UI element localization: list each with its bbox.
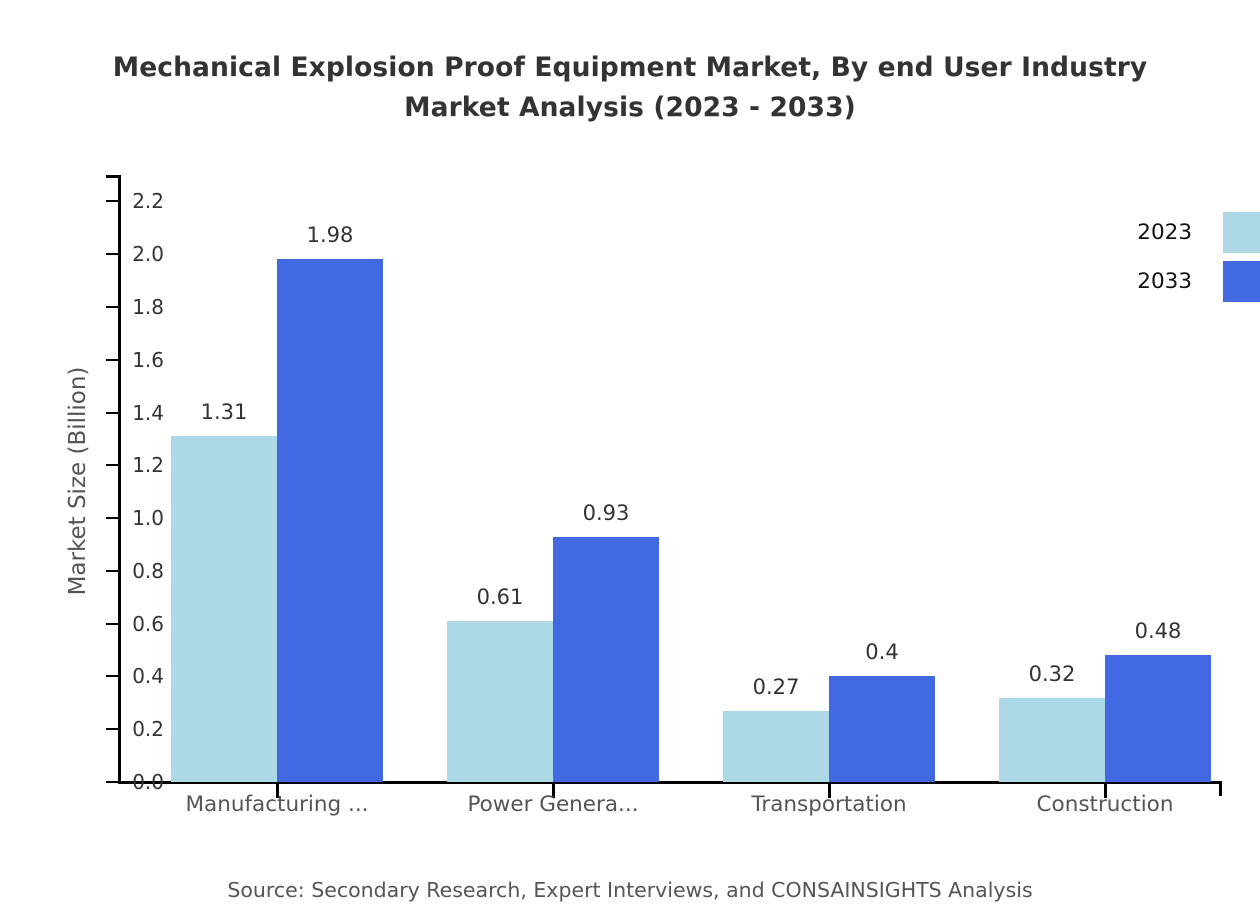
x-category-label-2: Power Genera... [467,792,638,817]
legend-label: 2033 [1090,271,1192,293]
bar-value-label: 0.27 [753,675,800,699]
legend-item-2033[interactable]: 2033 [1090,261,1260,305]
bar-2023-3[interactable] [723,711,829,782]
bar-value-label: 1.98 [307,223,354,247]
plot-area: 1.311.980.610.930.270.40.320.48 [118,175,1222,782]
bar-2033-2[interactable] [553,537,659,782]
bar-value-label: 0.48 [1135,619,1182,643]
x-axis-end-cap [1219,781,1222,796]
legend-label: 2023 [1090,222,1192,244]
bar-2023-1[interactable] [171,436,277,782]
legend-item-2023[interactable]: 2023 [1090,212,1260,256]
bar-2033-3[interactable] [829,676,935,782]
x-category-label-3: Transportation [751,792,906,817]
bar-value-label: 0.61 [477,585,524,609]
x-category-label-4: Construction [1037,792,1174,817]
bar-2033-1[interactable] [277,259,383,782]
bar-value-label: 0.32 [1029,662,1076,686]
legend-swatch [1223,212,1260,253]
bar-2023-2[interactable] [447,621,553,782]
bar-chart: Mechanical Explosion Proof Equipment Mar… [0,0,1260,920]
chart-title-line-2: Market Analysis (2023 - 2033) [0,88,1260,128]
legend-swatch [1223,261,1260,302]
x-category-label-1: Manufacturing ... [185,792,368,817]
chart-title-line-1: Mechanical Explosion Proof Equipment Mar… [0,48,1260,88]
bar-value-label: 1.31 [201,400,248,424]
bar-value-label: 0.4 [865,640,898,664]
chart-title: Mechanical Explosion Proof Equipment Mar… [0,48,1260,128]
source-note: Source: Secondary Research, Expert Inter… [0,878,1260,902]
bar-value-label: 0.93 [583,501,630,525]
legend: 20232033 [1090,212,1260,302]
bar-2033-4[interactable] [1105,655,1211,782]
bar-2023-4[interactable] [999,698,1105,782]
